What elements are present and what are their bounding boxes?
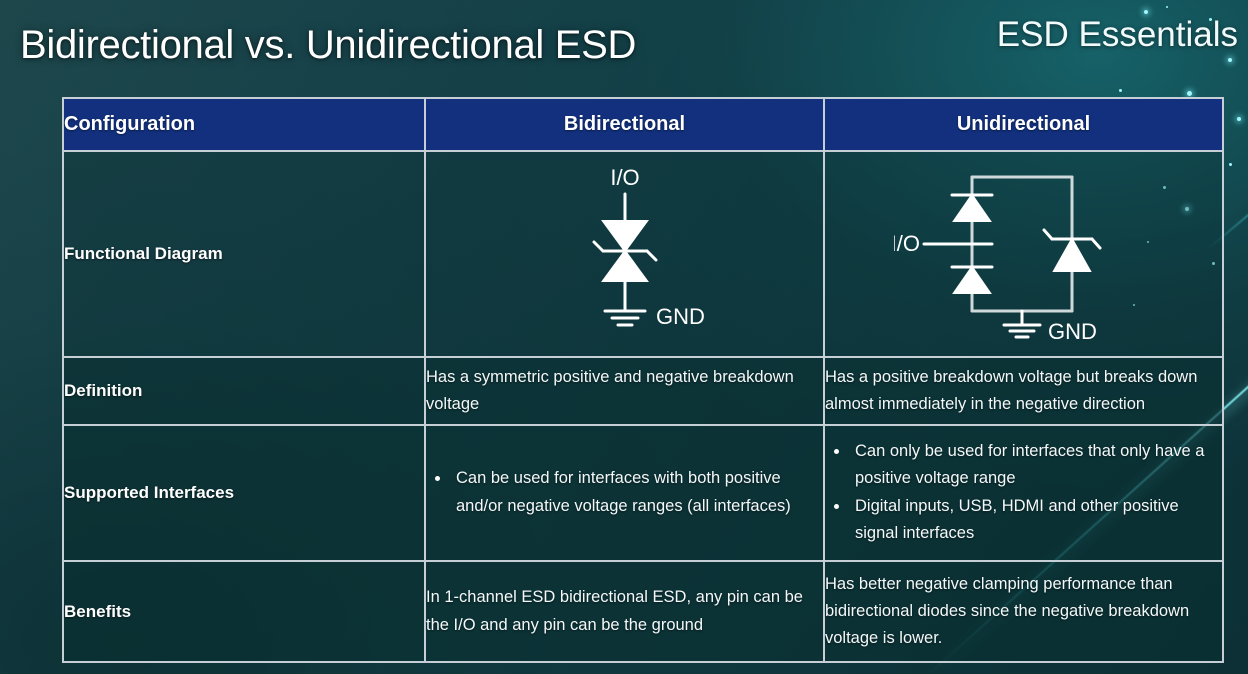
sparkle-dot-icon <box>1237 117 1241 121</box>
list-item: Can be used for interfaces with both pos… <box>426 465 823 519</box>
definition-unidirectional-cell: Has a positive breakdown voltage but bre… <box>824 357 1223 425</box>
comparison-table: Configuration Bidirectional Unidirection… <box>62 97 1224 663</box>
benefits-bidirectional-cell: In 1-channel ESD bidirectional ESD, any … <box>425 561 824 662</box>
unidirectional-tvs-schematic-icon: I/O GND <box>894 159 1154 349</box>
row-label-benefits: Benefits <box>63 561 425 662</box>
sparkle-dot-icon <box>1229 163 1232 166</box>
bidirectional-functional-diagram: I/O GND <box>425 151 824 357</box>
unidirectional-functional-diagram: I/O GND <box>824 151 1223 357</box>
supported-interfaces-unidirectional-cell: Can only be used for interfaces that onl… <box>824 425 1223 561</box>
sparkle-dot-icon <box>1187 91 1192 96</box>
column-header-configuration: Configuration <box>63 98 425 151</box>
table-row: Definition Has a symmetric positive and … <box>63 357 1223 425</box>
table-header: Configuration Bidirectional Unidirection… <box>63 98 1223 151</box>
table-row: Functional Diagram <box>63 151 1223 357</box>
bullet-list: Can be used for interfaces with both pos… <box>426 465 823 519</box>
io-label: I/O <box>610 165 639 190</box>
cell-paragraph: Has a symmetric positive and negative br… <box>426 364 823 418</box>
page-title: Bidirectional vs. Unidirectional ESD <box>20 23 636 68</box>
cell-paragraph: Has better negative clamping performance… <box>825 571 1222 653</box>
list-item: Can only be used for interfaces that onl… <box>825 438 1222 492</box>
io-label: I/O <box>894 231 920 256</box>
bidirectional-tvs-schematic-icon: I/O GND <box>510 159 740 349</box>
row-label-functional-diagram: Functional Diagram <box>63 151 425 357</box>
slide-header: Bidirectional vs. Unidirectional ESD ESD… <box>0 0 1248 86</box>
bullet-list: Can only be used for interfaces that onl… <box>825 438 1222 548</box>
row-label-definition: Definition <box>63 357 425 425</box>
table-header-row: Configuration Bidirectional Unidirection… <box>63 98 1223 151</box>
row-label-supported-interfaces: Supported Interfaces <box>63 425 425 561</box>
column-header-bidirectional: Bidirectional <box>425 98 824 151</box>
gnd-label: GND <box>1048 319 1097 344</box>
sparkle-dot-icon <box>1119 89 1122 92</box>
slide-canvas: Bidirectional vs. Unidirectional ESD ESD… <box>0 0 1248 674</box>
table-row: Supported Interfaces Can be used for int… <box>63 425 1223 561</box>
deck-label: ESD Essentials <box>997 15 1238 55</box>
definition-bidirectional-cell: Has a symmetric positive and negative br… <box>425 357 824 425</box>
supported-interfaces-bidirectional-cell: Can be used for interfaces with both pos… <box>425 425 824 561</box>
cell-paragraph: In 1-channel ESD bidirectional ESD, any … <box>426 584 823 638</box>
column-header-unidirectional: Unidirectional <box>824 98 1223 151</box>
list-item: Digital inputs, USB, HDMI and other posi… <box>825 493 1222 547</box>
table-row: Benefits In 1-channel ESD bidirectional … <box>63 561 1223 662</box>
gnd-label: GND <box>656 304 705 329</box>
cell-paragraph: Has a positive breakdown voltage but bre… <box>825 364 1222 418</box>
table-body: Functional Diagram <box>63 151 1223 662</box>
benefits-unidirectional-cell: Has better negative clamping performance… <box>824 561 1223 662</box>
